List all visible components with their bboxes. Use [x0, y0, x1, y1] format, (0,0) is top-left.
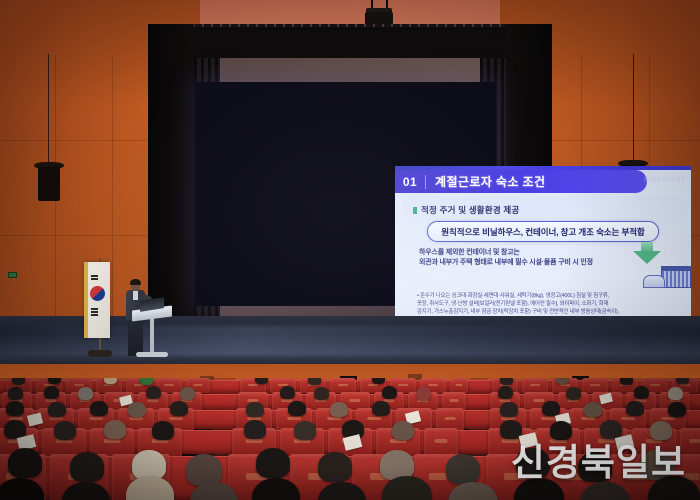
slide-detail-line: 옷장, 취사도구, 냉·난방 설비[보일러(전기판넬 포함), 에어컨 필수],…	[417, 300, 673, 308]
building-roof	[661, 266, 691, 271]
seat	[424, 428, 458, 456]
audience-head	[48, 378, 61, 384]
greenhouse-shape	[643, 275, 665, 288]
audience-head	[620, 378, 633, 385]
flag-trigram	[91, 278, 98, 280]
flag-stand	[88, 350, 112, 357]
audience-head	[318, 452, 352, 482]
square-bullet-icon	[413, 207, 417, 214]
audience-head	[382, 386, 397, 399]
lectern-base	[136, 352, 168, 357]
slide-title: 계절근로자 숙소 조건	[426, 173, 545, 190]
audience-head	[78, 387, 93, 400]
audience-head	[128, 402, 146, 417]
audience-head	[330, 402, 348, 417]
audience-head	[498, 386, 513, 399]
flag-trigram	[91, 311, 98, 313]
audience-head	[48, 402, 66, 417]
audience-head	[256, 448, 290, 478]
audience-head	[90, 401, 108, 416]
audience-head	[676, 378, 689, 384]
audience-head	[668, 402, 686, 417]
seat	[450, 378, 468, 393]
slide-title-meta: 경상북도 외국인정책	[643, 177, 685, 183]
seat	[330, 378, 356, 393]
slide-callout-box: 원칙적으로 비닐하우스, 컨테이너, 창고 개조 숙소는 부적합	[427, 221, 659, 242]
audience-head	[8, 387, 23, 400]
audience-head	[146, 386, 161, 399]
audience-head	[556, 378, 569, 384]
lectern-post	[150, 318, 154, 354]
audience-head	[542, 401, 560, 416]
flag-trigram	[91, 308, 98, 310]
pendant-lamp-cord	[48, 54, 49, 164]
slide-title-bar: 01 계절근로자 숙소 조건	[395, 170, 647, 193]
audience-head	[584, 402, 602, 417]
slide-detail-line: • 온수가 나오는 싱크대·화장실·세면대·샤워실, 세탁기(8kg), 냉장고…	[417, 292, 673, 300]
audience-head	[152, 421, 174, 440]
audience-head	[288, 401, 306, 416]
audience-head	[446, 454, 480, 484]
flag-gold-band	[84, 262, 88, 338]
slide-callout-text: 원칙적으로 비닐하우스, 컨테이너, 창고 개조 숙소는 부적합	[441, 226, 644, 238]
taeguk-circle	[90, 286, 105, 301]
audience-head	[500, 402, 518, 417]
proscenium-header	[148, 24, 552, 62]
audience-head	[372, 378, 385, 384]
seat	[436, 408, 464, 430]
pendant-lamp-body	[38, 167, 60, 201]
audience-head	[12, 378, 25, 385]
audience-head	[392, 421, 414, 440]
container-building-icon	[643, 266, 691, 288]
audience-head	[314, 387, 329, 400]
projection-screen: 01 계절근로자 숙소 조건 경상북도 외국인정책 적정 주거 및 생활환경 제…	[196, 82, 496, 306]
audience-head	[626, 401, 644, 416]
stage-light-strip	[148, 24, 552, 27]
exit-sign	[8, 272, 17, 278]
audience-head	[104, 420, 126, 439]
audience-head	[54, 421, 76, 440]
audience-head	[44, 386, 59, 399]
slide-subheading-row: 적정 주거 및 생활환경 제공	[413, 204, 519, 216]
flag-trigram	[91, 275, 98, 277]
green-down-arrow-icon	[633, 251, 661, 264]
audience-head	[500, 378, 513, 385]
audience-head	[280, 386, 295, 399]
audience-head	[294, 421, 316, 440]
audience-head	[372, 401, 390, 416]
audience-head	[668, 387, 683, 400]
korean-national-flag	[84, 262, 110, 338]
audience-head	[140, 378, 153, 385]
audience-head	[8, 448, 42, 478]
slide-title-number: 01	[395, 175, 425, 189]
audience-head	[6, 401, 24, 416]
audience-head	[308, 378, 321, 385]
audience-head	[634, 386, 649, 399]
slide-note-line: 외관과 내부가 주택 형태로 내부에 필수 시설·물품 구비 시 인정	[419, 258, 601, 268]
audience-head	[104, 378, 117, 384]
slide-subheading: 적정 주거 및 생활환경 제공	[421, 205, 519, 215]
audience-head	[180, 387, 195, 400]
presenter-legs	[128, 318, 143, 356]
audience-head	[416, 387, 431, 400]
presenter-hair	[130, 279, 141, 285]
publisher-watermark: 신경북일보	[511, 432, 686, 486]
slide-note-line: 하우스를 제외한 컨테이너 및 창고는	[419, 248, 601, 258]
audience-head	[255, 378, 268, 384]
presenter-shirt	[133, 291, 138, 300]
audience-head	[246, 402, 264, 417]
seat	[582, 378, 608, 393]
pendant-lamp-cord	[633, 54, 634, 164]
audience-head	[566, 387, 581, 400]
flag-trigram	[91, 314, 98, 316]
seat	[522, 378, 548, 393]
slide-note-block: 하우스를 제외한 컨테이너 및 창고는 외관과 내부가 주택 형태로 내부에 필…	[419, 248, 601, 268]
auditorium-photo: 01 계절근로자 숙소 조건 경상북도 외국인정책 적정 주거 및 생활환경 제…	[0, 0, 700, 500]
audience-head	[244, 420, 266, 439]
audience-head	[70, 452, 104, 482]
audience-head	[170, 401, 188, 416]
